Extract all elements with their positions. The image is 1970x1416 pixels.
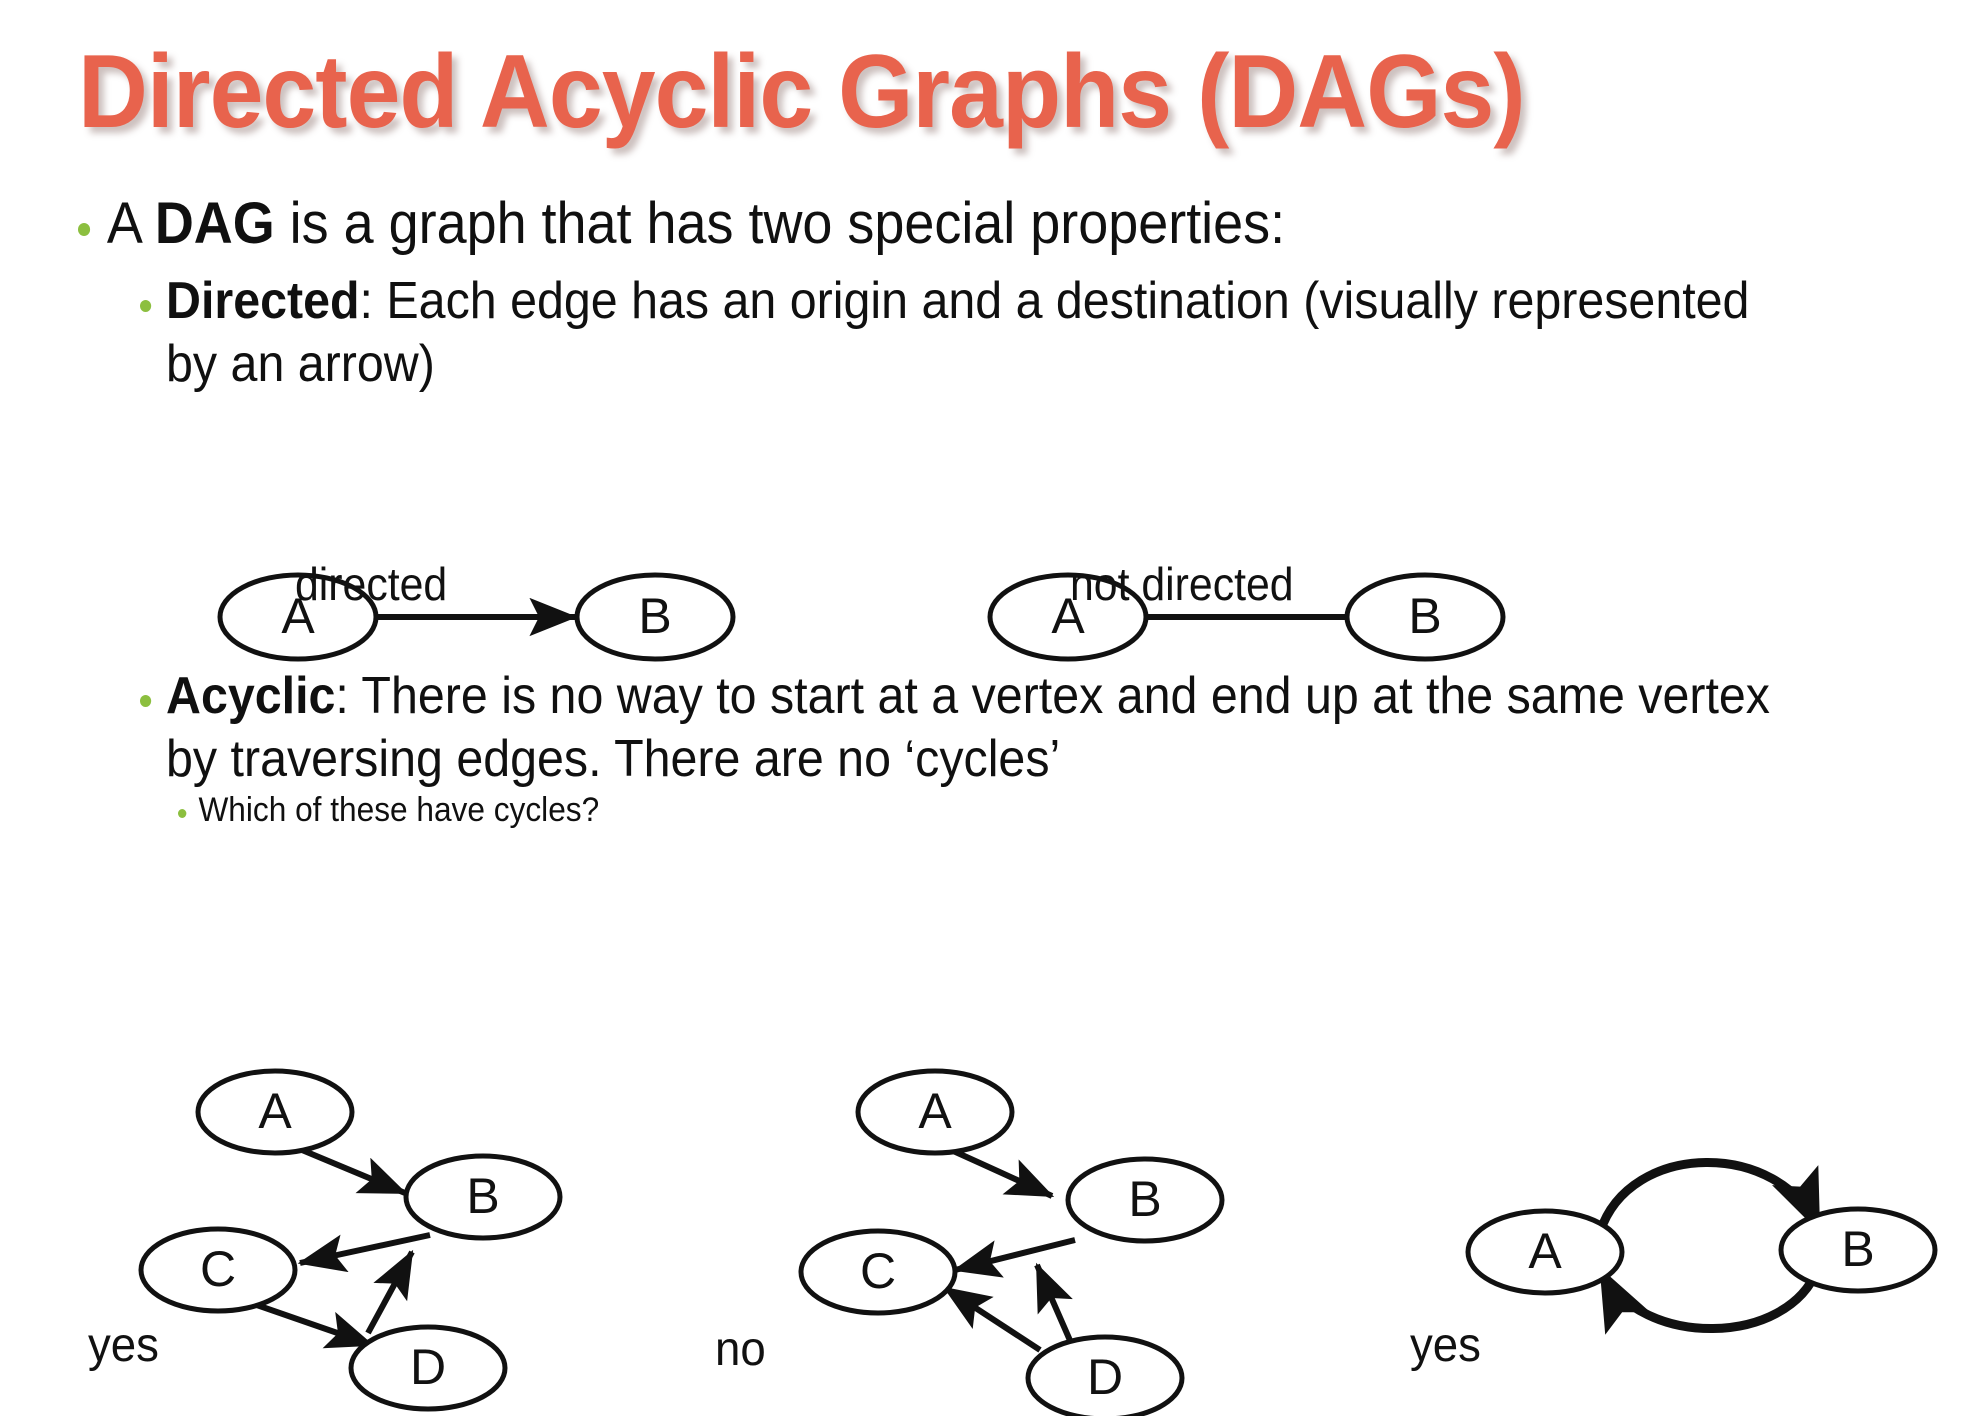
node-a-label: A [918, 1083, 952, 1139]
node-a-label: A [1528, 1223, 1562, 1279]
node-a-label: A [258, 1083, 292, 1139]
verdict-graph-1: yes [88, 1318, 159, 1373]
edge-d-to-b [1037, 1265, 1072, 1345]
edge-b-to-a [1602, 1268, 1818, 1329]
slide-canvas: Directed Acyclic Graphs (DAGs) A DAG is … [0, 0, 1970, 1416]
node-d-label: D [1087, 1349, 1123, 1405]
node-b-label: B [466, 1168, 499, 1224]
edge-a-to-b [290, 1145, 405, 1193]
edge-d-to-c [945, 1288, 1040, 1350]
verdict-graph-3: yes [1410, 1318, 1481, 1373]
edge-d-to-b [368, 1252, 412, 1333]
node-c-label: C [860, 1243, 896, 1299]
edge-a-to-b [1600, 1162, 1818, 1232]
node-d-label: D [410, 1339, 446, 1395]
graph-cycle-2: A B C D [801, 1071, 1222, 1416]
node-c-label: C [200, 1241, 236, 1297]
bottom-diagrams-layer: A B C D A B C D [0, 0, 1970, 1416]
verdict-graph-2: no [715, 1322, 766, 1377]
graph-cycle-1: A B C D [141, 1071, 560, 1409]
graph-cycle-3: A B [1468, 1162, 1935, 1328]
node-b-label: B [1128, 1171, 1161, 1227]
node-b-label: B [1841, 1221, 1874, 1277]
edge-c-to-d [248, 1302, 372, 1345]
edge-b-to-c [955, 1240, 1075, 1270]
